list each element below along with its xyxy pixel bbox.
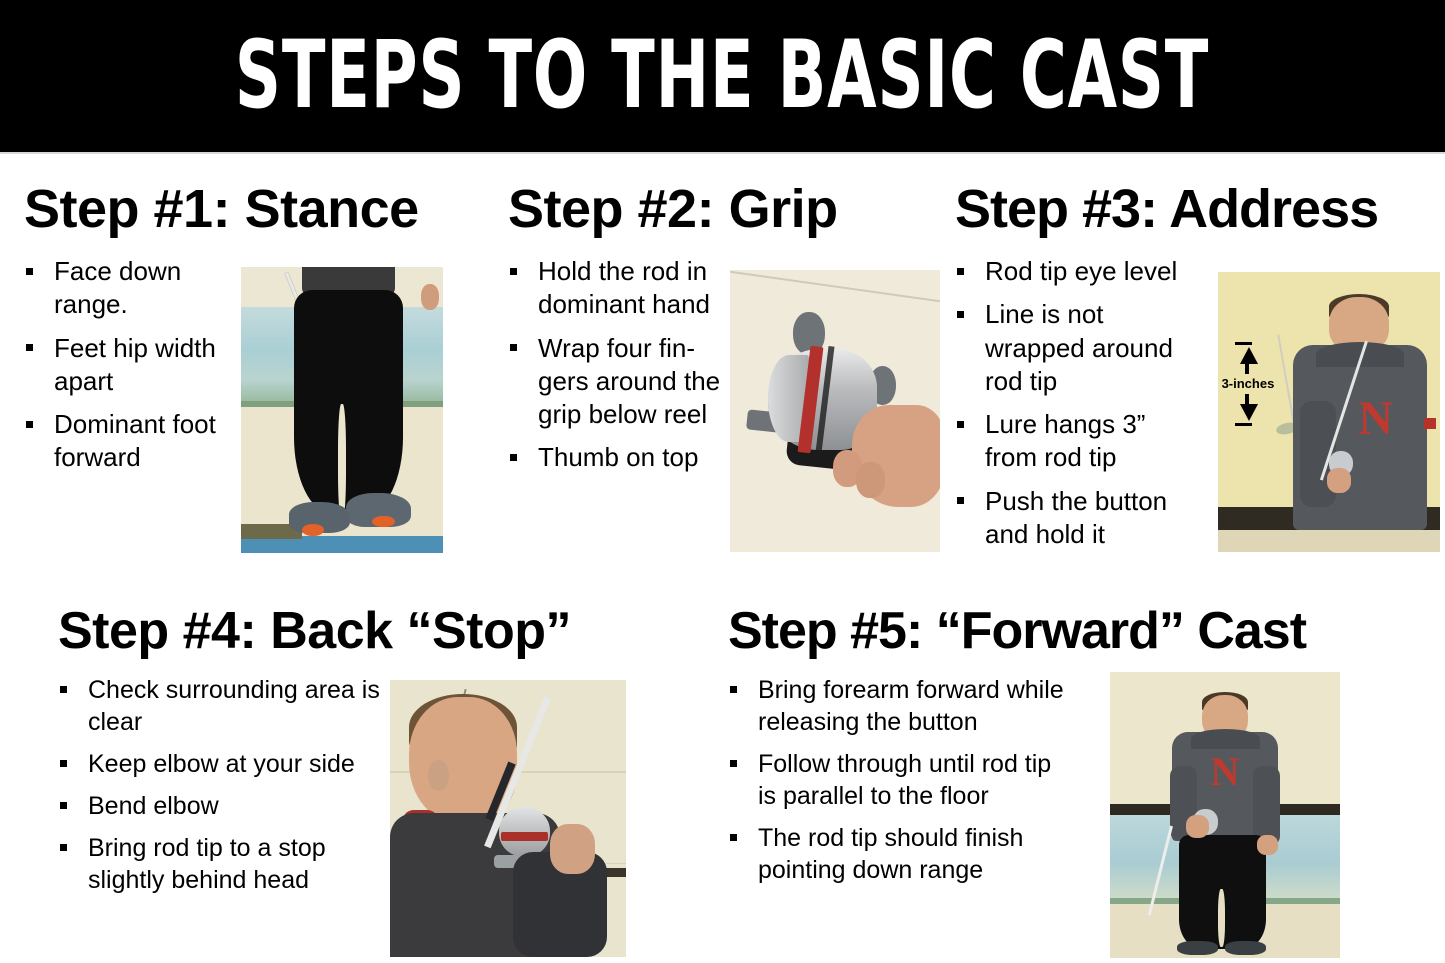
title-bar-divider: [0, 152, 1445, 154]
step-2-heading: Step #2: Grip: [508, 182, 948, 237]
forward-cast-photo: N: [1110, 672, 1340, 958]
list-item: Hold the rod in dominant hand: [508, 255, 723, 322]
step-2-bullet-list: Hold the rod in dominant hand Wrap four …: [508, 255, 723, 475]
step-5-heading: Step #5: “Forward” Cast: [728, 605, 1438, 658]
bullet-text: Bend elbow: [88, 792, 219, 820]
bullet-text: Rod tip eye level: [985, 256, 1177, 286]
step-3-bullet-list: Rod tip eye level Line is not wrapped ar…: [955, 255, 1187, 551]
bullet-text: The rod tip should finish pointing down …: [758, 824, 1023, 884]
square-bullet-icon: [510, 454, 517, 461]
square-bullet-icon: [60, 760, 67, 767]
list-item: Line is not wrapped around rod tip: [955, 298, 1187, 398]
square-bullet-icon: [730, 834, 737, 841]
square-bullet-icon: [60, 802, 67, 809]
list-item: The rod tip should finish pointing down …: [728, 822, 1073, 886]
list-item: Rod tip eye level: [955, 255, 1187, 288]
bullet-text: Follow through until rod tip is parallel…: [758, 750, 1051, 810]
step-5-bullet-list: Bring forearm forward while releasing th…: [728, 674, 1073, 886]
bullet-text: Hold the rod in dominant hand: [538, 256, 710, 319]
list-item: Feet hip width apart: [24, 332, 229, 399]
bullet-text: Keep elbow at your side: [88, 750, 355, 778]
bullet-text: Wrap four fin-gers around the grip below…: [538, 333, 720, 430]
hoodie-logo-letter: N: [1351, 395, 1400, 457]
list-item: Dominant foot forward: [24, 408, 229, 475]
list-item: Bend elbow: [58, 790, 388, 822]
dimension-stem-top: [1245, 362, 1249, 374]
list-item: Wrap four fin-gers around the grip below…: [508, 332, 723, 432]
dimension-tick-bottom-icon: [1235, 423, 1252, 426]
list-item: Keep elbow at your side: [58, 748, 388, 780]
list-item: Bring rod tip to a stop slightly behind …: [58, 832, 388, 896]
step-4-bullet-list: Check surrounding area is clear Keep elb…: [58, 674, 388, 896]
address-position-photo: N 3-inches: [1218, 272, 1440, 552]
square-bullet-icon: [510, 268, 517, 275]
bullet-text: Push the button and hold it: [985, 486, 1167, 549]
square-bullet-icon: [957, 268, 964, 275]
list-item: Bring forearm forward while releasing th…: [728, 674, 1073, 738]
bullet-text: Bring forearm forward while releasing th…: [758, 676, 1064, 736]
list-item: Check surrounding area is clear: [58, 674, 388, 738]
bullet-text: Check surrounding area is clear: [88, 676, 380, 736]
step-1-heading: Step #1: Stance: [24, 182, 494, 237]
page-title: STEPS TO THE BASIC CAST: [235, 29, 1209, 123]
back-stop-photo: [390, 680, 626, 957]
square-bullet-icon: [510, 344, 517, 351]
step-1-bullet-list: Face down range. Feet hip width apart Do…: [24, 255, 229, 475]
step-4-heading: Step #4: Back “Stop”: [58, 605, 678, 658]
square-bullet-icon: [26, 268, 33, 275]
square-bullet-icon: [957, 311, 964, 318]
arrow-down-icon: [1240, 404, 1258, 421]
step-3-heading: Step #3: Address: [955, 182, 1445, 237]
bullet-text: Bring rod tip to a stop slightly behind …: [88, 834, 326, 894]
list-item: Lure hangs 3” from rod tip: [955, 408, 1187, 475]
reel-grip-photo: [730, 270, 940, 552]
hoodie-logo-letter: N: [1197, 752, 1252, 803]
three-inch-dimension-annotation: 3-inches: [1227, 342, 1294, 426]
dimension-tick-top-icon: [1235, 342, 1252, 345]
poster-title-bar: STEPS TO THE BASIC CAST: [0, 0, 1445, 152]
square-bullet-icon: [26, 344, 33, 351]
square-bullet-icon: [26, 421, 33, 428]
bullet-text: Face down range.: [54, 256, 181, 319]
arrow-up-icon: [1240, 347, 1258, 364]
list-item: Face down range.: [24, 255, 229, 322]
list-item: Follow through until rod tip is parallel…: [728, 748, 1073, 812]
bullet-text: Dominant foot forward: [54, 409, 216, 472]
square-bullet-icon: [60, 844, 67, 851]
square-bullet-icon: [957, 421, 964, 428]
square-bullet-icon: [730, 686, 737, 693]
bullet-text: Line is not wrapped around rod tip: [985, 299, 1173, 396]
legs-stance-photo: [241, 267, 443, 553]
dimension-label: 3-inches: [1222, 376, 1275, 391]
list-item: Push the button and hold it: [955, 485, 1187, 552]
bullet-text: Thumb on top: [538, 442, 698, 472]
square-bullet-icon: [957, 497, 964, 504]
bullet-text: Lure hangs 3” from rod tip: [985, 409, 1145, 472]
square-bullet-icon: [730, 760, 737, 767]
square-bullet-icon: [60, 686, 67, 693]
list-item: Thumb on top: [508, 441, 723, 474]
bullet-text: Feet hip width apart: [54, 333, 216, 396]
